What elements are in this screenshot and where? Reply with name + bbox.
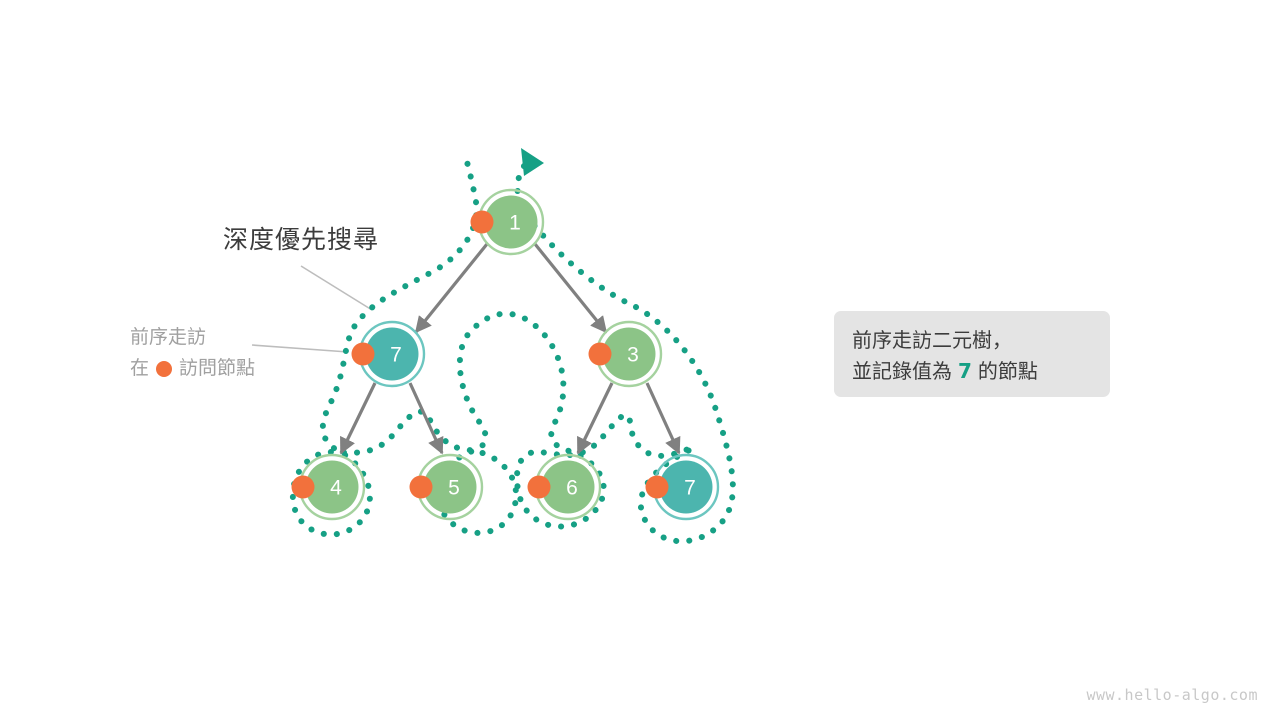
edge-n3-n7: [647, 383, 679, 453]
visit-marker-dot-icon: [410, 476, 433, 499]
visit-marker-dot-icon: [646, 476, 669, 499]
visit-marker-dot-icon: [352, 343, 375, 366]
info-box-highlight-value: 7: [952, 359, 978, 383]
preorder-note-suffix: 訪問節點: [179, 353, 255, 384]
info-box: 前序走訪二元樹， 並記錄值為7的節點: [834, 311, 1110, 397]
node-value-label: 6: [566, 477, 578, 500]
preorder-note-prefix: 在: [130, 353, 149, 384]
watermark: www.hello-algo.com: [1086, 686, 1258, 704]
visit-marker-dot-icon: [589, 343, 612, 366]
tree-node-5[interactable]: 5: [410, 455, 483, 519]
node-value-label: 5: [448, 477, 460, 500]
orange-dot-icon: [156, 361, 172, 377]
visit-marker-dot-icon: [292, 476, 315, 499]
visit-marker-dot-icon: [528, 476, 551, 499]
node-value-label: 3: [627, 344, 639, 367]
node-value-label: 7: [684, 477, 696, 500]
info-box-line2-prefix: 並記錄值為: [852, 359, 952, 383]
info-box-line2-suffix: 的節點: [978, 359, 1038, 383]
edge-n3-n6: [578, 383, 612, 453]
tree-node-3[interactable]: 3: [589, 322, 662, 386]
tree-node-7[interactable]: 7: [646, 455, 719, 519]
preorder-note: 前序走訪 在 訪問節點: [130, 322, 255, 384]
leader-line-dfs: [301, 266, 372, 310]
edge-n2-n5: [410, 383, 442, 453]
leader-lines: [252, 266, 372, 352]
info-box-line1: 前序走訪二元樹，: [852, 325, 1110, 356]
diagram-canvas: 1734567 深度優先搜尋 前序走訪 在 訪問節點 前序走訪二元樹， 並記錄值…: [0, 0, 1280, 720]
preorder-note-line1: 前序走訪: [130, 322, 255, 353]
leader-line-preorder: [252, 345, 348, 352]
preorder-note-line2: 在 訪問節點: [130, 353, 255, 384]
visit-marker-dot-icon: [471, 211, 494, 234]
dfs-title-label: 深度優先搜尋: [223, 220, 379, 256]
node-value-label: 7: [390, 344, 402, 367]
node-value-label: 1: [509, 212, 521, 235]
edge-n1-n3: [535, 244, 606, 332]
node-value-label: 4: [330, 477, 342, 500]
tree-node-7[interactable]: 7: [352, 322, 425, 386]
tree-node-1[interactable]: 1: [471, 190, 544, 254]
edge-n2-n4: [341, 383, 375, 453]
info-box-line2: 並記錄值為7的節點: [852, 356, 1110, 387]
dfs-path-arrowhead-icon: [521, 148, 544, 176]
